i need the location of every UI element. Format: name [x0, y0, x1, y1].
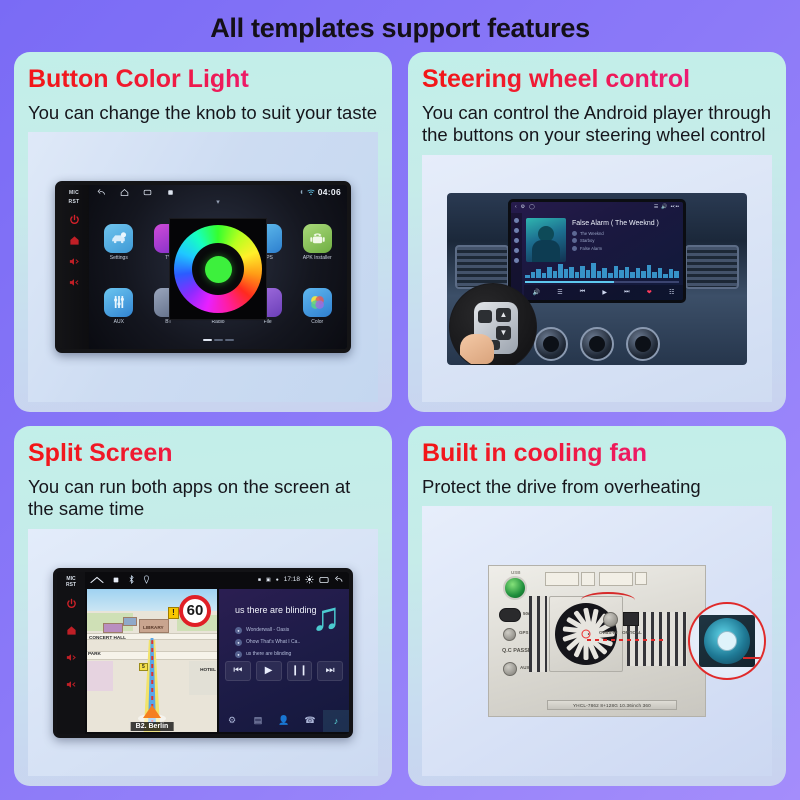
- card-title: Steering wheel control: [422, 66, 772, 93]
- album-art: [526, 218, 566, 262]
- rst-label: RST: [66, 582, 76, 588]
- color-wheel-hole: [192, 243, 244, 295]
- card-title: Built in cooling fan: [422, 440, 772, 467]
- head-unit-bezel: ‹ ⚙ ◯ ☰ 🔊 ••:••: [508, 199, 686, 303]
- card-description: You can control the Android player throu…: [422, 102, 772, 148]
- android-icon: [303, 224, 332, 253]
- mute-icon: 🔊: [661, 204, 667, 210]
- music-note-icon: ♫: [311, 597, 341, 637]
- apps-icon: [166, 188, 175, 197]
- album-icon: [572, 238, 577, 243]
- volume-icon: 🔊: [533, 289, 540, 296]
- battery-icon: ■: [258, 577, 261, 583]
- fan-wire: [743, 657, 761, 659]
- map-label-concert-hall: CONCERT HALL: [89, 635, 126, 640]
- prev-icon: ⏮: [580, 289, 585, 296]
- steering-button-down[interactable]: ▼: [496, 326, 511, 340]
- mode-knob: [626, 327, 660, 361]
- app-apk-installer[interactable]: APK Installer: [293, 211, 341, 273]
- card-title: Split Screen: [28, 440, 378, 467]
- audio-waveform: [525, 262, 679, 278]
- track-title: False Alarm ( The Weeknd ): [572, 220, 679, 227]
- gps-antenna-port: [503, 576, 527, 600]
- card-media-split-screen: MIC RST ■ ▣: [28, 529, 378, 776]
- model-label-bar: YHCL-7862 8+128G 10.36inch 360: [547, 700, 677, 710]
- bluetooth-icon: [128, 575, 135, 584]
- music-pane[interactable]: ♫ us there are blinding ●Wonderwall - Oa…: [219, 589, 349, 732]
- player-side-rail[interactable]: [511, 213, 522, 300]
- feature-card-cooling-fan: Built in cooling fan Protect the drive f…: [408, 426, 786, 786]
- card-media-head-unit-color-wheel: MIC RST: [28, 132, 378, 402]
- status-right: 04:06: [299, 187, 341, 197]
- clock: 04:06: [318, 187, 341, 197]
- prev-icon[interactable]: ⏮: [225, 661, 251, 681]
- exit-badge: 5: [139, 663, 148, 671]
- feature-card-button-color-light: Button Color Light You can change the kn…: [14, 52, 392, 412]
- player-controls[interactable]: 🔊 ☰ ⏮ ▶ ⏭ ❤ ☷: [524, 285, 683, 300]
- recents-icon: [319, 576, 329, 584]
- feature-card-grid: Button Color Light You can change the kn…: [0, 48, 800, 800]
- music-row: ●us there are blinding: [235, 651, 300, 658]
- head-unit-side-buttons[interactable]: MIC RST: [59, 185, 89, 349]
- climate-knobs[interactable]: [534, 327, 660, 361]
- card-title: Button Color Light: [28, 66, 378, 93]
- track-icon: [572, 246, 577, 251]
- card-description: Protect the drive from overheating: [422, 476, 772, 499]
- air-vent-right: [685, 245, 739, 289]
- recents-icon: [143, 188, 152, 197]
- track-name: us there are blinding: [246, 651, 291, 657]
- track-name: False Alarm: [580, 246, 602, 251]
- label-gps: GPS: [519, 630, 529, 635]
- settings-icon[interactable]: ⚙: [219, 710, 245, 732]
- app-label: AUX: [114, 319, 124, 325]
- status-right: ☰ 🔊 ••:••: [654, 204, 679, 210]
- rst-label: RST: [69, 199, 80, 205]
- volume-up-icon[interactable]: [68, 255, 81, 268]
- brightness-icon: [305, 575, 314, 584]
- circle-icon: ◯: [529, 204, 535, 210]
- phone-icon[interactable]: ☎: [297, 710, 323, 732]
- now-playing-title: us there are blinding: [235, 605, 317, 615]
- air-vent-left: [455, 245, 509, 289]
- fan-power-wire: [581, 592, 635, 602]
- pause-icon[interactable]: ❙❙: [287, 661, 313, 681]
- equalizer-icon: [104, 288, 133, 317]
- location-icon: [143, 575, 150, 584]
- label-usb: USB: [511, 570, 521, 575]
- fan-knob: [534, 327, 568, 361]
- map-label-library: LIBRARY: [143, 625, 164, 630]
- power-icon[interactable]: [68, 213, 81, 226]
- track-icon: ●: [235, 651, 242, 658]
- antenna-connector: [499, 608, 521, 622]
- music-tab-bar[interactable]: ⚙ ▤ 👤 ☎ ♪: [219, 710, 349, 732]
- home-icon: [90, 576, 104, 584]
- callout-connector-line: [587, 639, 667, 641]
- card-description: You can change the knob to suit your tas…: [28, 102, 378, 125]
- map-label-hotel: HOTEL: [200, 667, 216, 672]
- steering-button-up[interactable]: ▲: [496, 308, 511, 322]
- progress-bar[interactable]: [525, 281, 679, 283]
- card-media-cooling-fan: USB 50mm GPS Q.C PASSED AUX: [422, 506, 772, 776]
- home-icon[interactable]: [68, 234, 81, 247]
- music-row: ●Wonderwall - Oasis: [235, 627, 300, 634]
- cooling-fan-closeup: [688, 602, 766, 680]
- car-dashboard-photo: ‹ ⚙ ◯ ☰ 🔊 ••:••: [447, 193, 747, 365]
- home-icon[interactable]: [66, 623, 77, 641]
- label-cvbs-in: CVBS-IN: [599, 630, 618, 635]
- signal-icon: ☰: [654, 204, 658, 210]
- gear-icon: ⚙: [521, 204, 525, 210]
- music-controls[interactable]: ⏮ ▶ ❙❙ ⏭: [225, 661, 343, 681]
- nav-row[interactable]: [93, 188, 175, 197]
- optical-port: [623, 612, 639, 626]
- app-label: APK Installer: [303, 255, 332, 261]
- artist-name: The Weeknd: [580, 231, 604, 236]
- back-icon: [97, 188, 106, 197]
- back-icon: ‹: [515, 204, 517, 210]
- page-title: All templates support features: [0, 0, 800, 48]
- album-name: Starboy: [580, 238, 594, 243]
- map-label-park: PARK: [88, 651, 101, 656]
- head-unit-side-buttons[interactable]: MIC RST: [57, 572, 85, 734]
- app-settings[interactable]: Settings: [95, 211, 143, 273]
- status-bar: 04:06: [89, 185, 347, 199]
- favorite-icon: ❤: [647, 289, 652, 296]
- temperature-knob: [580, 327, 614, 361]
- speed-limit-sign: 60: [179, 595, 211, 627]
- feature-card-steering-wheel-control: Steering wheel control You can control t…: [408, 52, 786, 412]
- player-row: The Weeknd: [572, 231, 679, 236]
- head-unit-device-split: MIC RST ■ ▣: [53, 568, 353, 738]
- play-icon[interactable]: ▶: [256, 661, 282, 681]
- back-icon: [334, 575, 344, 584]
- clock: ••:••: [671, 204, 679, 210]
- eq-icon: ☰: [557, 289, 562, 296]
- player-body: False Alarm ( The Weeknd ) The Weeknd St…: [524, 214, 683, 268]
- fan-center-marker: [582, 630, 591, 639]
- color-icon: [303, 288, 332, 317]
- chevron-down-icon[interactable]: ▾: [89, 198, 347, 206]
- head-unit-screen[interactable]: 04:06 ▾ Settings: [89, 185, 347, 349]
- apps-icon: [112, 576, 120, 584]
- contacts-icon[interactable]: 👤: [271, 710, 297, 732]
- power-icon[interactable]: [66, 596, 77, 614]
- color-wheel-picker[interactable]: [174, 225, 262, 313]
- player-meta: False Alarm ( The Weeknd ) The Weeknd St…: [572, 218, 679, 268]
- steering-wheel-closeup: ▲ ▼: [449, 283, 537, 365]
- device-rear-panel-photo: USB 50mm GPS Q.C PASSED AUX: [488, 565, 706, 717]
- album-icon: ●: [235, 639, 242, 646]
- steering-button-mode[interactable]: [478, 310, 492, 323]
- volume-down-icon[interactable]: [68, 276, 81, 289]
- music-info-rows: ●Wonderwall - Oasis ●Ohow That's What I …: [235, 627, 300, 658]
- volume-down-icon[interactable]: [65, 677, 77, 695]
- warning-sign-icon: !: [168, 607, 179, 619]
- equalizer-icon[interactable]: ▤: [245, 710, 271, 732]
- sim-icon: ▣: [266, 577, 271, 583]
- play-icon: ▶: [602, 289, 607, 296]
- app-label: Settings: [110, 255, 128, 261]
- mic-label: MIC: [69, 190, 79, 196]
- status-bar[interactable]: ■ ▣ ● 17:18: [85, 572, 349, 588]
- color-wheel-dialog[interactable]: [169, 218, 267, 320]
- list-icon: ☷: [669, 289, 674, 296]
- clock: 17:18: [284, 576, 300, 583]
- volume-up-icon[interactable]: [65, 650, 77, 668]
- player-row: Starboy: [572, 238, 679, 243]
- card-description: You can run both apps on the screen at t…: [28, 476, 378, 522]
- destination-label: B2. Berlin: [131, 722, 174, 731]
- label-optical: OPTICAL: [622, 630, 642, 635]
- color-preview-swatch: [205, 256, 232, 283]
- fan-photo: [699, 615, 755, 667]
- card-media-steering-wheel: ‹ ⚙ ◯ ☰ 🔊 ••:••: [422, 155, 772, 402]
- album-name: Ohow That's What I Ca..: [246, 639, 300, 645]
- navigation-map-pane[interactable]: CONCERT HALL LIBRARY PARK HOTEL 5 ! 60 B…: [87, 589, 217, 732]
- wifi-icon: [307, 189, 315, 196]
- artist-name: Wonderwall - Oasis: [246, 627, 289, 633]
- bluetooth-icon: [299, 188, 304, 196]
- artist-icon: [572, 231, 577, 236]
- page-dots[interactable]: [89, 328, 347, 346]
- player-status-bar: ‹ ⚙ ◯ ☰ 🔊 ••:••: [511, 202, 683, 213]
- hand-thumb: [460, 334, 494, 364]
- next-icon[interactable]: ⏭: [317, 661, 343, 681]
- music-row: ●Ohow That's What I Ca..: [235, 639, 300, 646]
- music-player-screen[interactable]: ‹ ⚙ ◯ ☰ 🔊 ••:••: [511, 202, 683, 300]
- status-right: ■ ▣ ● 17:18: [258, 575, 344, 584]
- app-label: Color: [311, 319, 323, 325]
- home-icon: [120, 188, 129, 197]
- artist-icon: ●: [235, 627, 242, 634]
- location-icon: ●: [276, 577, 279, 583]
- car-settings-icon: [104, 224, 133, 253]
- feature-card-split-screen: Split Screen You can run both apps on th…: [14, 426, 392, 786]
- gps-port: [503, 628, 516, 641]
- music-icon[interactable]: ♪: [323, 710, 349, 732]
- head-unit-device: MIC RST: [55, 181, 351, 353]
- aux-port: [503, 662, 517, 676]
- next-icon: ⏭: [624, 289, 629, 296]
- player-row: False Alarm: [572, 246, 679, 251]
- model-code: YHCL-7862 8+128G 10.36inch 360: [573, 703, 651, 708]
